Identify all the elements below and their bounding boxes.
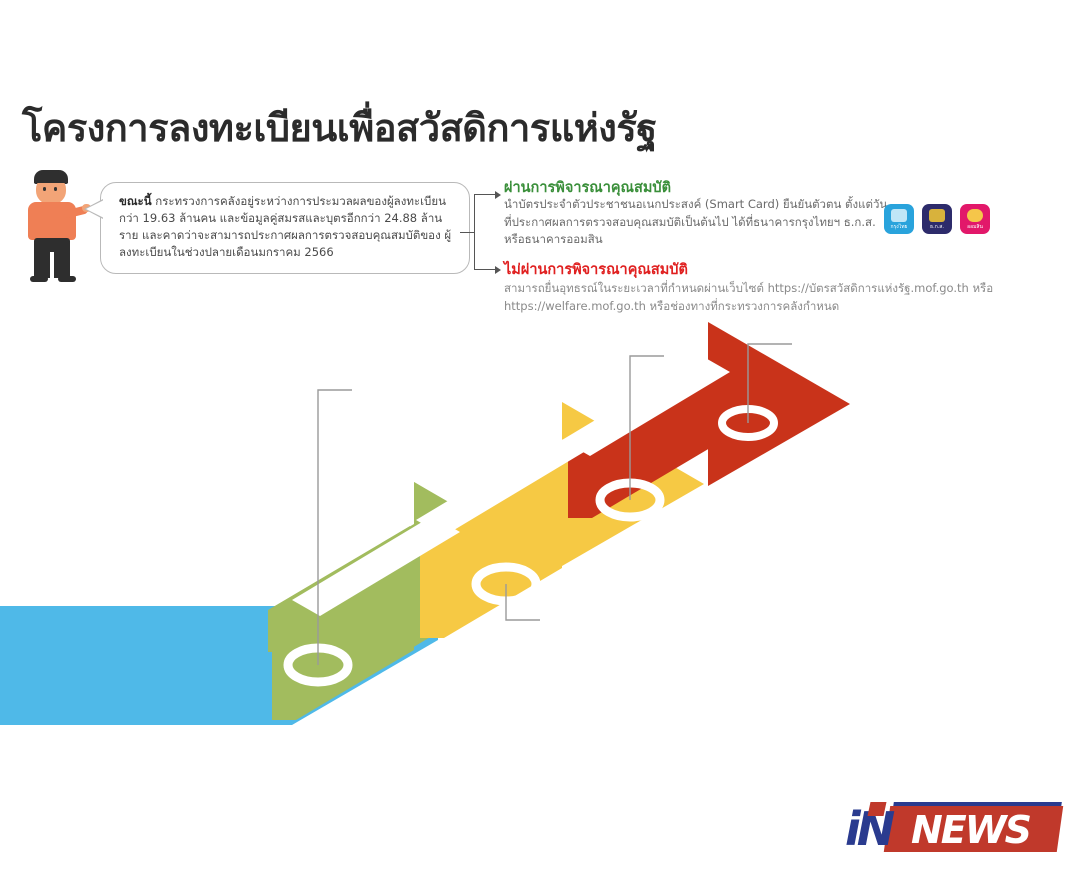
logo-news-text: NEWS <box>911 808 1030 852</box>
person-eye-left <box>43 187 46 191</box>
bank-gsb-icon: ออมสิน <box>960 204 990 234</box>
intro-speech-bubble: ขณะนี้ กระทรวงการคลังอยู่ระหว่างการประมว… <box>100 182 470 274</box>
branch-connector <box>474 190 504 270</box>
person-fringe <box>34 174 68 183</box>
person-shoe-right <box>58 276 76 282</box>
arrow-right-icon <box>495 266 501 274</box>
intro-lead: ขณะนี้ <box>119 194 152 208</box>
fail-heading: ไม่ผ่านการพิจารณาคุณสมบัติ <box>504 258 688 281</box>
innews-logo: iN NEWS <box>845 800 1060 858</box>
person-eye-right <box>54 187 57 191</box>
bank-baac-icon: ธ.ก.ส. <box>922 204 952 234</box>
person-leg-gap <box>50 252 54 278</box>
bank-logos: กรุงไทย ธ.ก.ส. ออมสิน <box>884 204 1004 238</box>
person-illustration <box>18 168 88 283</box>
logo-accent <box>868 802 887 816</box>
bank-label: ธ.ก.ส. <box>922 223 952 231</box>
person-shoe-left <box>30 276 48 282</box>
branch-line-bottom <box>474 269 496 270</box>
page-title: โครงการลงทะเบียนเพื่อสวัสดิการแห่งรัฐ <box>22 108 722 150</box>
arrow-right-icon <box>495 191 501 199</box>
bank-label: ออมสิน <box>960 223 990 231</box>
bank-krungthai-icon: กรุงไทย <box>884 204 914 234</box>
person-shirt <box>28 202 76 240</box>
infographic-canvas: โครงการลงทะเบียนเพื่อสวัสดิการแห่งรัฐ ขณ… <box>0 0 1080 882</box>
timeline-ribbon-final <box>0 320 1080 740</box>
bank-label: กรุงไทย <box>884 223 914 231</box>
intro-body: กระทรวงการคลังอยู่ระหว่างการประมวลผลของผ… <box>119 194 451 259</box>
branch-line-stem <box>460 232 475 233</box>
fail-body-text: สามารถยื่นอุทธรณ์ในระยะเวลาที่กำหนดผ่านเ… <box>504 279 1064 315</box>
speech-bubble-tail <box>86 200 104 218</box>
branch-line-top <box>474 194 496 195</box>
pass-body-text: นำบัตรประจำตัวประชาชนอเนกประสงค์ (Smart … <box>504 196 894 249</box>
